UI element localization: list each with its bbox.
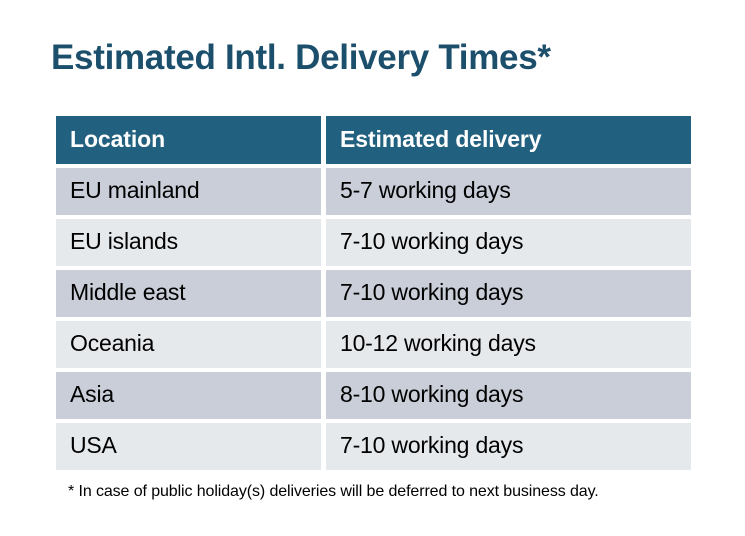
column-header-estimated-delivery: Estimated delivery (326, 116, 691, 164)
cell-location: Asia (56, 372, 321, 419)
cell-estimated-delivery: 10-12 working days (326, 321, 691, 368)
table-header-row: Location Estimated delivery (56, 116, 691, 164)
page-title: Estimated Intl. Delivery Times* (51, 36, 551, 80)
cell-estimated-delivery: 7-10 working days (326, 270, 691, 317)
estimated-delivery-times-table: Location Estimated delivery EU mainland … (51, 112, 696, 474)
cell-estimated-delivery: 5-7 working days (326, 168, 691, 215)
table-row: USA 7-10 working days (56, 423, 691, 470)
table-row: EU mainland 5-7 working days (56, 168, 691, 215)
cell-location: Oceania (56, 321, 321, 368)
cell-estimated-delivery: 8-10 working days (326, 372, 691, 419)
cell-estimated-delivery: 7-10 working days (326, 219, 691, 266)
cell-location: USA (56, 423, 321, 470)
cell-location: EU islands (56, 219, 321, 266)
column-header-location: Location (56, 116, 321, 164)
cell-location: Middle east (56, 270, 321, 317)
cell-estimated-delivery: 7-10 working days (326, 423, 691, 470)
table-body: EU mainland 5-7 working days EU islands … (56, 168, 691, 470)
cell-location: EU mainland (56, 168, 321, 215)
table-row: Asia 8-10 working days (56, 372, 691, 419)
delivery-times-page: Estimated Intl. Delivery Times* Location… (0, 0, 745, 536)
table-row: Middle east 7-10 working days (56, 270, 691, 317)
table-row: EU islands 7-10 working days (56, 219, 691, 266)
table-row: Oceania 10-12 working days (56, 321, 691, 368)
table-footnote: * In case of public holiday(s) deliverie… (68, 483, 599, 501)
table-header: Location Estimated delivery (56, 116, 691, 164)
